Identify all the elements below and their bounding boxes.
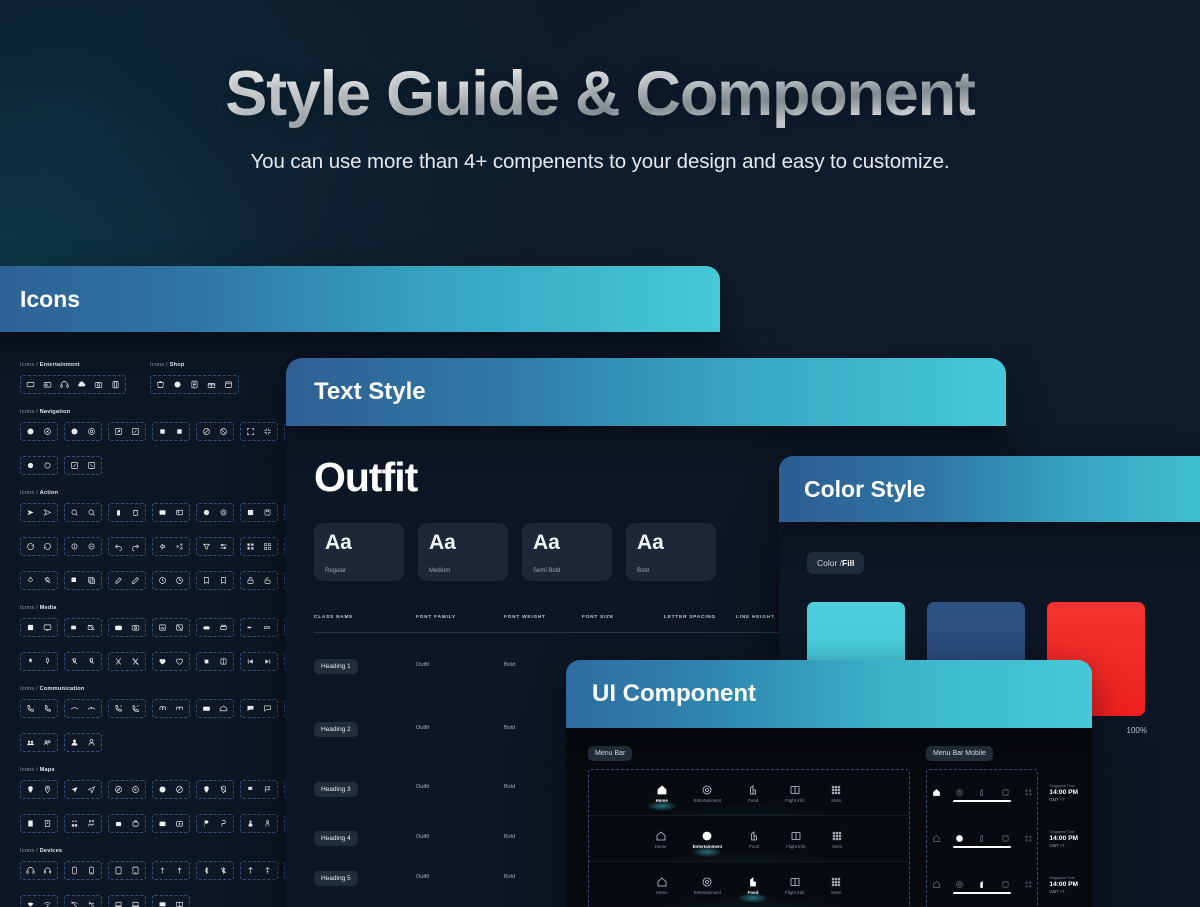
menu-item-label: Entertainment (693, 844, 723, 849)
entertainment-icon (701, 783, 713, 795)
icon-group[interactable] (240, 814, 278, 833)
skip-forward-icon[interactable] (263, 657, 272, 666)
icon-group[interactable] (240, 503, 278, 522)
clock-icon[interactable] (158, 576, 167, 585)
font-weight-label: Medium (429, 568, 497, 581)
icon-group[interactable] (20, 503, 58, 522)
icon-row (20, 375, 126, 394)
icon-group[interactable] (64, 699, 102, 718)
undo-icon[interactable] (114, 542, 123, 551)
icon-group[interactable] (64, 571, 102, 590)
icon-group[interactable] (64, 733, 102, 752)
album-outline-icon[interactable] (219, 623, 228, 632)
menu-item-flight-info[interactable]: Flight Info (786, 829, 805, 849)
class-name-chip: Heading 2 (314, 722, 358, 737)
cell-font-family: Outfit (416, 725, 504, 731)
menu-item-food[interactable]: Food (748, 829, 760, 849)
icon-group[interactable] (152, 571, 190, 590)
flight-info-icon[interactable] (1001, 830, 1010, 839)
menu-item-more[interactable]: More (830, 875, 842, 895)
menu-item-more[interactable]: More (831, 829, 843, 849)
bluetooth-icon[interactable] (202, 866, 211, 875)
navigation-icon[interactable] (70, 785, 79, 794)
bag-claim-outline-icon[interactable] (131, 819, 140, 828)
dot-icon[interactable] (26, 461, 35, 470)
icon-group[interactable] (196, 814, 234, 833)
menu-item-more[interactable]: More (830, 783, 842, 803)
cloud-icon[interactable] (77, 380, 86, 389)
icon-group[interactable] (20, 652, 58, 671)
menu-item-home[interactable]: Home (656, 783, 668, 803)
clock-time: 14:00 PM (1049, 789, 1078, 796)
entertainment-icon (701, 829, 713, 841)
refresh-ccw-icon[interactable] (43, 542, 52, 551)
first-aid-outline-icon[interactable] (175, 819, 184, 828)
mic-outline-icon[interactable] (43, 657, 52, 666)
icon-group[interactable] (152, 422, 190, 441)
heart-outline-icon[interactable] (175, 657, 184, 666)
font-weight-card[interactable]: Aa Semi Bold (522, 523, 612, 581)
icon-group[interactable] (196, 537, 234, 556)
icon-group[interactable] (20, 814, 58, 833)
laptop-icon[interactable] (114, 900, 123, 907)
menu-item-label: Flight Info (786, 844, 805, 849)
panel-icons-header: Icons (0, 266, 720, 332)
font-weight-label: Regular (325, 568, 393, 581)
home-icon (655, 829, 667, 841)
external-link-alt-icon[interactable] (131, 427, 140, 436)
icon-group[interactable] (64, 537, 102, 556)
film-icon[interactable] (111, 380, 120, 389)
droplet-icon[interactable] (26, 576, 35, 585)
icon-group[interactable] (152, 861, 190, 880)
panel-text-style-header: Text Style (286, 358, 1006, 426)
icon-group[interactable] (152, 503, 190, 522)
camera-media-icon[interactable] (114, 623, 123, 632)
usb-icon[interactable] (158, 866, 167, 875)
gear-outline-icon[interactable] (219, 508, 228, 517)
icon-group[interactable] (240, 780, 278, 799)
icon-group[interactable] (196, 780, 234, 799)
panel-color-style-title: Color Style (804, 476, 925, 503)
pencil-icon[interactable] (131, 576, 140, 585)
layout-icon[interactable] (219, 657, 228, 666)
menu-item-label: Food (749, 844, 759, 849)
menu-item-flight-info[interactable]: Flight Info (785, 875, 804, 895)
gear-icon[interactable] (202, 508, 211, 517)
cell-font-family: Outfit (416, 784, 504, 790)
building-outline-icon[interactable] (43, 819, 52, 828)
desktop-outline-icon[interactable] (175, 900, 184, 907)
icon-group[interactable] (240, 618, 278, 637)
clock-widget: Singapore Time 14:00 PM GMT +7 (1049, 876, 1078, 894)
icon-group[interactable] (20, 375, 126, 394)
icon-group[interactable] (152, 537, 190, 556)
restroom-outline-icon[interactable] (87, 819, 96, 828)
grid-more-icon[interactable] (1024, 784, 1033, 793)
style-guide-canvas: Style Guide & Component You can use more… (0, 0, 1200, 907)
phone-call-icon[interactable] (114, 704, 123, 713)
grid-icon[interactable] (246, 542, 255, 551)
home-icon (656, 783, 668, 795)
icon-group[interactable] (64, 895, 102, 907)
save-media-icon[interactable] (26, 623, 35, 632)
grid-more-icon (830, 783, 842, 795)
menu-item-label: More (832, 844, 842, 849)
food-icon (747, 783, 759, 795)
first-aid-icon[interactable] (158, 819, 167, 828)
square-filled-alt-icon[interactable] (175, 427, 184, 436)
icon-group[interactable] (20, 537, 58, 556)
icon-group[interactable] (108, 503, 146, 522)
grid-more-icon[interactable] (1024, 876, 1033, 885)
square-filled-icon[interactable] (158, 427, 167, 436)
usb-alt-icon[interactable] (175, 866, 184, 875)
camera-icon[interactable] (94, 380, 103, 389)
sync-alt-icon[interactable] (87, 542, 96, 551)
icon-group[interactable] (152, 618, 190, 637)
desktop-icon[interactable] (158, 900, 167, 907)
phone-outgoing-icon[interactable] (87, 704, 96, 713)
cut-icon[interactable] (114, 657, 123, 666)
target-filled-icon[interactable] (70, 427, 79, 436)
cast-icon[interactable] (246, 623, 255, 632)
tablet-icon[interactable] (114, 866, 123, 875)
icon-group[interactable] (20, 422, 58, 441)
trash-icon[interactable] (114, 508, 123, 517)
clock-alt-icon[interactable] (175, 576, 184, 585)
menu-item-home[interactable]: Home (655, 829, 667, 849)
close-circle-icon[interactable] (43, 427, 52, 436)
icon-group[interactable] (240, 699, 278, 718)
icon-group[interactable] (20, 895, 58, 907)
icon-group[interactable] (108, 422, 146, 441)
copy-outline-icon[interactable] (87, 576, 96, 585)
save-outline-icon[interactable] (263, 508, 272, 517)
cut-off-icon[interactable] (131, 657, 140, 666)
menu-item-entertainment[interactable]: Entertainment (694, 783, 721, 803)
bookmark-outline-icon[interactable] (219, 576, 228, 585)
icon-group[interactable] (196, 422, 234, 441)
ban-alt-icon[interactable] (219, 427, 228, 436)
smartphone-alt-icon[interactable] (87, 866, 96, 875)
flag-icon[interactable] (246, 785, 255, 794)
image-icon[interactable] (158, 508, 167, 517)
parking-outline-icon[interactable] (219, 819, 228, 828)
menu-item-label: More (831, 798, 841, 803)
badge-label: Fill (842, 558, 854, 568)
search-icon[interactable] (70, 508, 79, 517)
icon-group[interactable] (108, 652, 146, 671)
icon-group[interactable] (108, 814, 146, 833)
wifi-outline-icon[interactable] (43, 900, 52, 907)
home-icon[interactable] (932, 876, 941, 885)
grid-outline-icon[interactable] (263, 542, 272, 551)
icon-group[interactable] (196, 652, 234, 671)
icon-group[interactable] (64, 503, 102, 522)
menubar-mobile-row (927, 770, 1037, 816)
photo-off-icon[interactable] (175, 623, 184, 632)
pin-drop-icon[interactable] (202, 785, 211, 794)
menu-item-label: Food (748, 890, 759, 895)
menubar-section: Menu Bar Home Entertainment (588, 742, 1092, 907)
tablet-alt-icon[interactable] (131, 866, 140, 875)
mail-open-icon[interactable] (219, 704, 228, 713)
flight-info-icon (789, 783, 801, 795)
headset-icon[interactable] (26, 866, 35, 875)
locate-icon[interactable] (158, 785, 167, 794)
icon-group[interactable] (20, 733, 58, 752)
mail-icon[interactable] (202, 704, 211, 713)
food-icon (748, 829, 760, 841)
flag-outline-icon[interactable] (263, 785, 272, 794)
wifi-off-icon[interactable] (70, 900, 79, 907)
circle-dot-icon[interactable] (26, 427, 35, 436)
panel-ui-component-title: UI Component (592, 680, 756, 708)
maximize-icon[interactable] (246, 427, 255, 436)
icon-group[interactable] (20, 861, 58, 880)
copy-icon[interactable] (70, 576, 79, 585)
mic-mute-icon[interactable] (87, 657, 96, 666)
restroom-icon[interactable] (70, 819, 79, 828)
sliders-icon[interactable] (219, 542, 228, 551)
menu-item-food[interactable]: Food (747, 875, 759, 895)
icon-group[interactable] (64, 422, 102, 441)
arrow-expand-icon[interactable] (70, 461, 79, 470)
icon-group[interactable] (20, 780, 58, 799)
tag-icon[interactable] (173, 380, 182, 389)
map-pin-icon[interactable] (26, 785, 35, 794)
building-icon[interactable] (26, 819, 35, 828)
user-outline-icon[interactable] (87, 738, 96, 747)
entertainment-icon[interactable] (955, 830, 964, 839)
mic-icon[interactable] (26, 657, 35, 666)
navigation-outline-icon[interactable] (87, 785, 96, 794)
icon-group[interactable] (152, 652, 190, 671)
grid-more-icon[interactable] (1024, 830, 1033, 839)
menu-item-entertainment[interactable]: Entertainment (694, 875, 721, 895)
battery-charging-icon[interactable] (263, 866, 272, 875)
tv-icon[interactable] (26, 380, 35, 389)
class-name-chip: Heading 3 (314, 782, 358, 797)
icon-group[interactable] (152, 814, 190, 833)
user-icon[interactable] (70, 738, 79, 747)
icon-group[interactable] (108, 571, 146, 590)
bluetooth-off-icon[interactable] (219, 866, 228, 875)
person-pin-icon[interactable] (246, 819, 255, 828)
menu-item-label: Flight Info (785, 890, 804, 895)
menu-item-label: Flight Info (785, 798, 804, 803)
bag-claim-icon[interactable] (114, 819, 123, 828)
compass-alt-icon[interactable] (131, 785, 140, 794)
clock-zone: GMT +7 (1049, 797, 1078, 802)
redo-icon[interactable] (131, 542, 140, 551)
entertainment-icon[interactable] (955, 784, 964, 793)
circle-icon[interactable] (43, 461, 52, 470)
skip-back-icon[interactable] (246, 657, 255, 666)
icon-group[interactable] (196, 571, 234, 590)
cell-font-family: Outfit (416, 662, 504, 668)
share-icon[interactable] (158, 542, 167, 551)
photo-icon[interactable] (158, 623, 167, 632)
home-icon[interactable] (932, 784, 941, 793)
phone-alt-icon[interactable] (43, 704, 52, 713)
icon-group[interactable] (108, 537, 146, 556)
headset-alt-icon[interactable] (43, 866, 52, 875)
clock-time: 14:00 PM (1049, 881, 1078, 888)
mic-off-icon[interactable] (70, 657, 79, 666)
icon-group[interactable] (20, 699, 58, 718)
album-icon[interactable] (202, 623, 211, 632)
icon-group[interactable] (108, 780, 146, 799)
icon-group[interactable] (20, 618, 58, 637)
icon-group[interactable] (240, 422, 278, 441)
shopping-bag-icon[interactable] (156, 380, 165, 389)
voicemail-icon[interactable] (158, 704, 167, 713)
wifi-icon[interactable] (26, 900, 35, 907)
food-icon[interactable] (978, 830, 987, 839)
external-link-icon[interactable] (114, 427, 123, 436)
group-icon[interactable] (26, 738, 35, 747)
icon-group[interactable] (240, 861, 278, 880)
page-title: Style Guide & Component (0, 58, 1200, 130)
icon-group[interactable] (196, 503, 234, 522)
camera-switch-icon[interactable] (131, 623, 140, 632)
font-weight-card[interactable]: Aa Medium (418, 523, 508, 581)
font-weight-card[interactable]: Aa Regular (314, 523, 404, 581)
wifi-none-icon[interactable] (87, 900, 96, 907)
phone-incoming-icon[interactable] (70, 704, 79, 713)
phone-missed-icon[interactable] (131, 704, 140, 713)
person-pin-outline-icon[interactable] (263, 819, 272, 828)
image-outline-icon[interactable] (175, 508, 184, 517)
ban-icon[interactable] (202, 427, 211, 436)
pin-off-icon[interactable] (219, 785, 228, 794)
cast-off-icon[interactable] (263, 623, 272, 632)
menu-item-entertainment[interactable]: Entertainment (693, 829, 723, 849)
trash-outline-icon[interactable] (131, 508, 140, 517)
icon-group[interactable] (108, 699, 146, 718)
icon-group[interactable] (64, 652, 102, 671)
locate-off-icon[interactable] (175, 785, 184, 794)
video-icon[interactable] (70, 623, 79, 632)
arrow-expand-alt-icon[interactable] (87, 461, 96, 470)
target-icon[interactable] (87, 427, 96, 436)
icon-group[interactable] (196, 861, 234, 880)
icon-group[interactable] (152, 699, 190, 718)
color-fill-badge[interactable]: Color /Fill (807, 552, 864, 574)
filter-icon[interactable] (202, 542, 211, 551)
icon-row (150, 375, 239, 394)
gift-icon[interactable] (207, 380, 216, 389)
icon-group[interactable] (240, 652, 278, 671)
icon-group[interactable] (20, 456, 58, 475)
unlock-icon[interactable] (263, 576, 272, 585)
icon-group[interactable] (196, 618, 234, 637)
icon-category-label: Icons / Entertainment (20, 362, 126, 368)
send-icon[interactable] (26, 508, 35, 517)
save-icon[interactable] (246, 508, 255, 517)
heart-icon[interactable] (158, 657, 167, 666)
phone-icon[interactable] (26, 704, 35, 713)
battery-icon[interactable] (246, 866, 255, 875)
group-outline-icon[interactable] (43, 738, 52, 747)
receipt-icon[interactable] (190, 380, 199, 389)
menubar-row: Home Entertainment Food (589, 862, 909, 907)
headphones-icon[interactable] (60, 380, 69, 389)
smartphone-icon[interactable] (70, 866, 79, 875)
map-pin-outline-icon[interactable] (43, 785, 52, 794)
menu-item-home[interactable]: Home (656, 875, 668, 895)
send-outline-icon[interactable] (43, 508, 52, 517)
menubar-desktop-group: Menu Bar Home Entertainment (588, 742, 910, 907)
icon-group[interactable] (108, 895, 146, 907)
icon-group[interactable] (64, 618, 102, 637)
menu-item-flight-info[interactable]: Flight Info (785, 783, 804, 803)
edit-icon[interactable] (114, 576, 123, 585)
icon-group[interactable] (150, 375, 239, 394)
panel-color-style-header: Color Style (779, 456, 1200, 522)
compass-icon[interactable] (114, 785, 123, 794)
flight-info-icon[interactable] (1001, 876, 1010, 885)
video-off-icon[interactable] (87, 623, 96, 632)
monitor-icon[interactable] (43, 623, 52, 632)
share-alt-icon[interactable] (175, 542, 184, 551)
home-icon[interactable] (932, 830, 941, 839)
icon-group[interactable] (64, 861, 102, 880)
color-fill-badge-row: Color /Fill (807, 552, 1200, 574)
lock-icon[interactable] (246, 576, 255, 585)
grid-more-icon (830, 875, 842, 887)
icon-group[interactable] (152, 895, 190, 907)
food-icon[interactable] (978, 784, 987, 793)
menu-item-label: Home (655, 844, 667, 849)
stop-icon[interactable] (202, 657, 211, 666)
chat-outline-icon[interactable] (263, 704, 272, 713)
food-icon[interactable] (978, 876, 987, 885)
menu-item-label: More (831, 890, 841, 895)
icon-group[interactable] (240, 537, 278, 556)
radio-icon[interactable] (43, 380, 52, 389)
icon-group[interactable] (20, 571, 58, 590)
home-indicator (953, 800, 1011, 803)
refresh-icon[interactable] (26, 542, 35, 551)
font-weight-card[interactable]: Aa Bold (626, 523, 716, 581)
flight-info-icon[interactable] (1001, 784, 1010, 793)
chat-icon[interactable] (246, 704, 255, 713)
icon-group[interactable] (64, 456, 102, 475)
icon-group[interactable] (64, 814, 102, 833)
icon-group[interactable] (108, 618, 146, 637)
icon-group[interactable] (240, 571, 278, 590)
entertainment-icon[interactable] (955, 876, 964, 885)
menu-item-food[interactable]: Food (747, 783, 759, 803)
package-icon[interactable] (224, 380, 233, 389)
bookmark-icon[interactable] (202, 576, 211, 585)
icon-group[interactable] (152, 780, 190, 799)
minimize-icon[interactable] (263, 427, 272, 436)
search-alt-icon[interactable] (87, 508, 96, 517)
sync-icon[interactable] (70, 542, 79, 551)
icon-group[interactable] (108, 861, 146, 880)
laptop-alt-icon[interactable] (131, 900, 140, 907)
droplet-off-icon[interactable] (43, 576, 52, 585)
icon-group[interactable] (196, 699, 234, 718)
menubar-row: Home Entertainment Food (589, 816, 909, 862)
icon-group[interactable] (64, 780, 102, 799)
parking-icon[interactable] (202, 819, 211, 828)
voicemail-alt-icon[interactable] (175, 704, 184, 713)
